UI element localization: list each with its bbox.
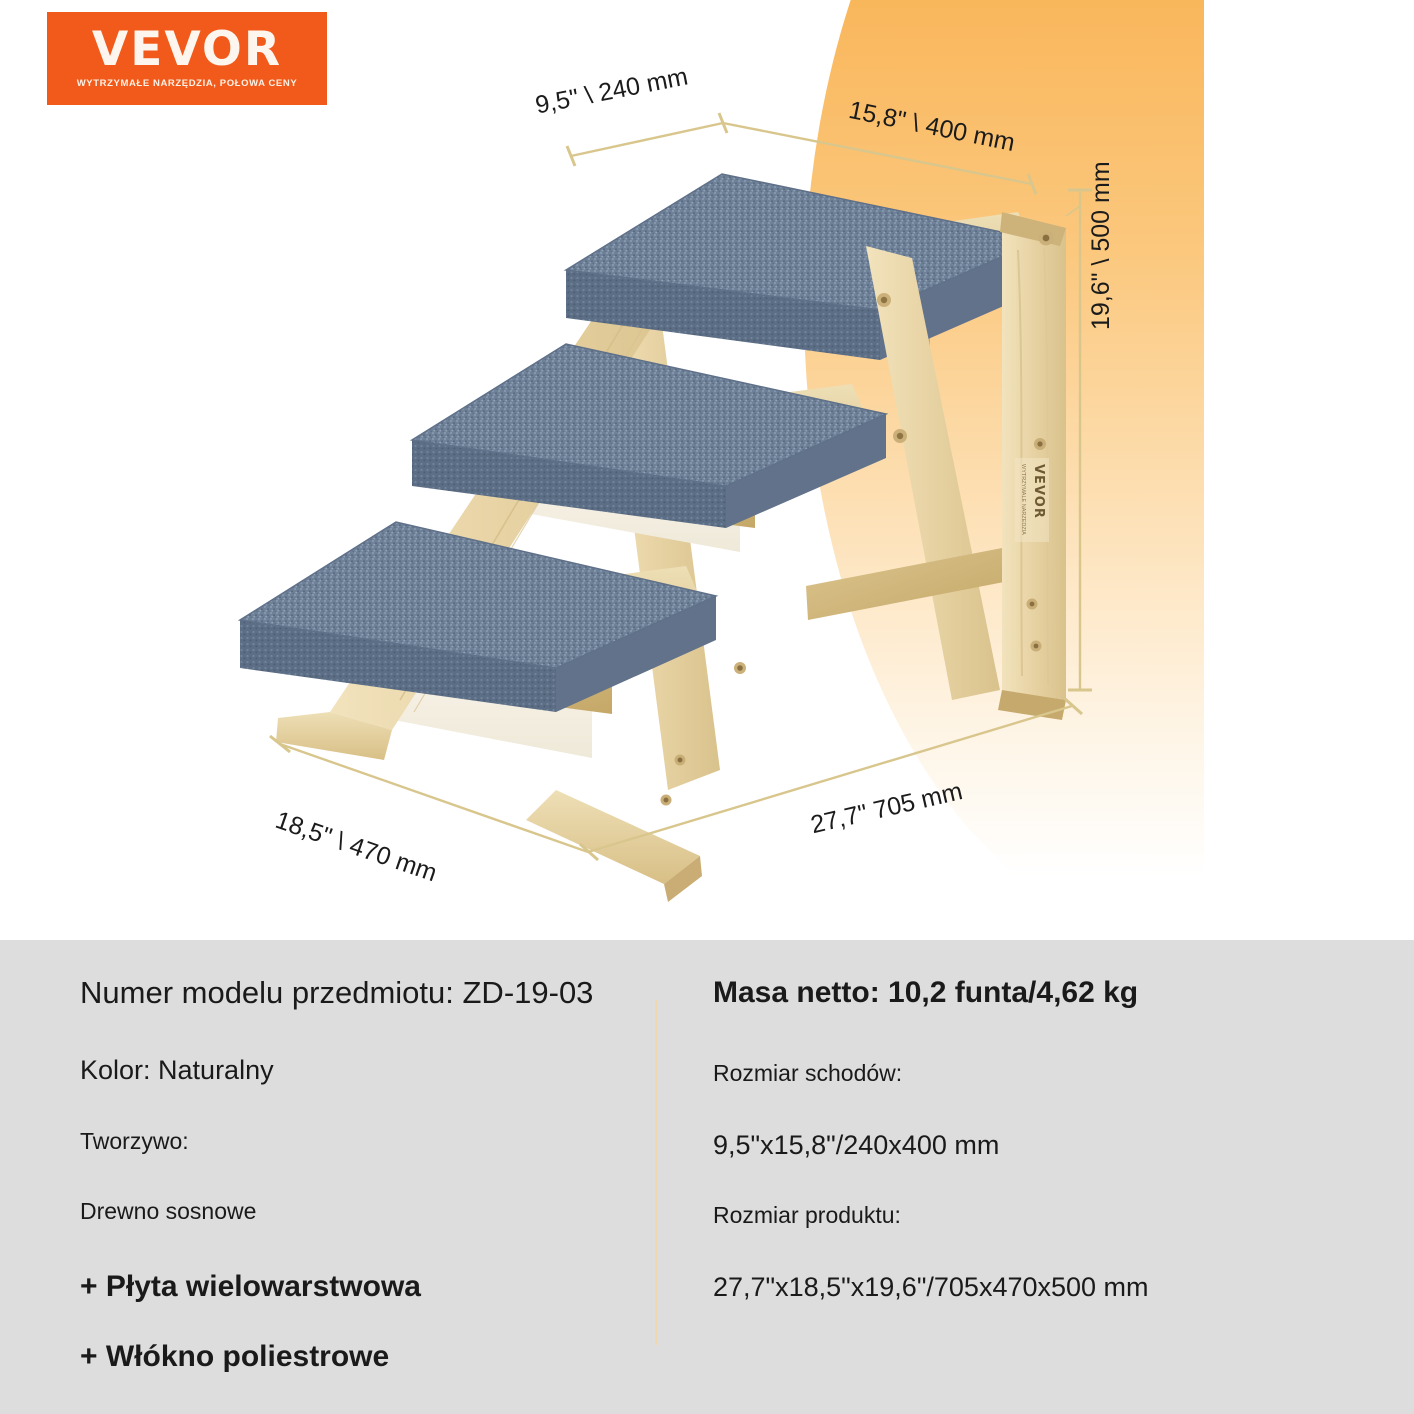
spec-right-line-2: 9,5"x15,8"/240x400 mm: [713, 1130, 999, 1161]
right-leg: VEVOR WYTRZYMALE NARZEDZIA: [998, 212, 1066, 720]
specification-panel: Numer modelu przedmiotu: ZD-19-03Kolor: …: [0, 940, 1414, 1414]
spec-right-line-4: 27,7"x18,5"x19,6"/705x470x500 mm: [713, 1272, 1149, 1303]
front-foot: [526, 790, 702, 902]
vevor-logo: VEVOR WYTRZYMAŁE NARZĘDZIA, POŁOWA CENY: [47, 12, 327, 105]
svg-text:VEVOR: VEVOR: [1031, 464, 1046, 519]
spec-left-line-0: Numer modelu przedmiotu: ZD-19-03: [80, 975, 593, 1011]
logo-tagline: WYTRZYMAŁE NARZĘDZIA, POŁOWA CENY: [77, 78, 298, 89]
spec-left-line-5: + Włókno poliestrowe: [80, 1340, 389, 1374]
product-infographic: VEVOR WYTRZYMALE NARZEDZIA: [0, 0, 1414, 1414]
svg-text:WYTRZYMALE NARZEDZIA: WYTRZYMALE NARZEDZIA: [1020, 464, 1026, 535]
spec-left-line-3: Drewno sosnowe: [80, 1198, 256, 1225]
hero-image-area: VEVOR WYTRZYMALE NARZEDZIA: [0, 0, 1414, 940]
spec-left-line-2: Tworzywo:: [80, 1128, 189, 1155]
logo-wordmark: VEVOR: [92, 28, 282, 73]
dimension-label-height: 19,6" \ 500 mm: [1087, 161, 1116, 330]
column-divider: [655, 1000, 658, 1345]
vevor-leg-sticker: VEVOR WYTRZYMALE NARZEDZIA: [1015, 458, 1049, 542]
spec-right-line-3: Rozmiar produktu:: [713, 1202, 901, 1229]
spec-right-line-1: Rozmiar schodów:: [713, 1060, 902, 1087]
spec-left-line-1: Kolor: Naturalny: [80, 1055, 274, 1086]
product-illustration: VEVOR WYTRZYMALE NARZEDZIA: [0, 0, 1414, 940]
spec-right-line-0: Masa netto: 10,2 funta/4,62 kg: [713, 976, 1138, 1010]
spec-left-line-4: + Płyta wielowarstwowa: [80, 1270, 421, 1304]
